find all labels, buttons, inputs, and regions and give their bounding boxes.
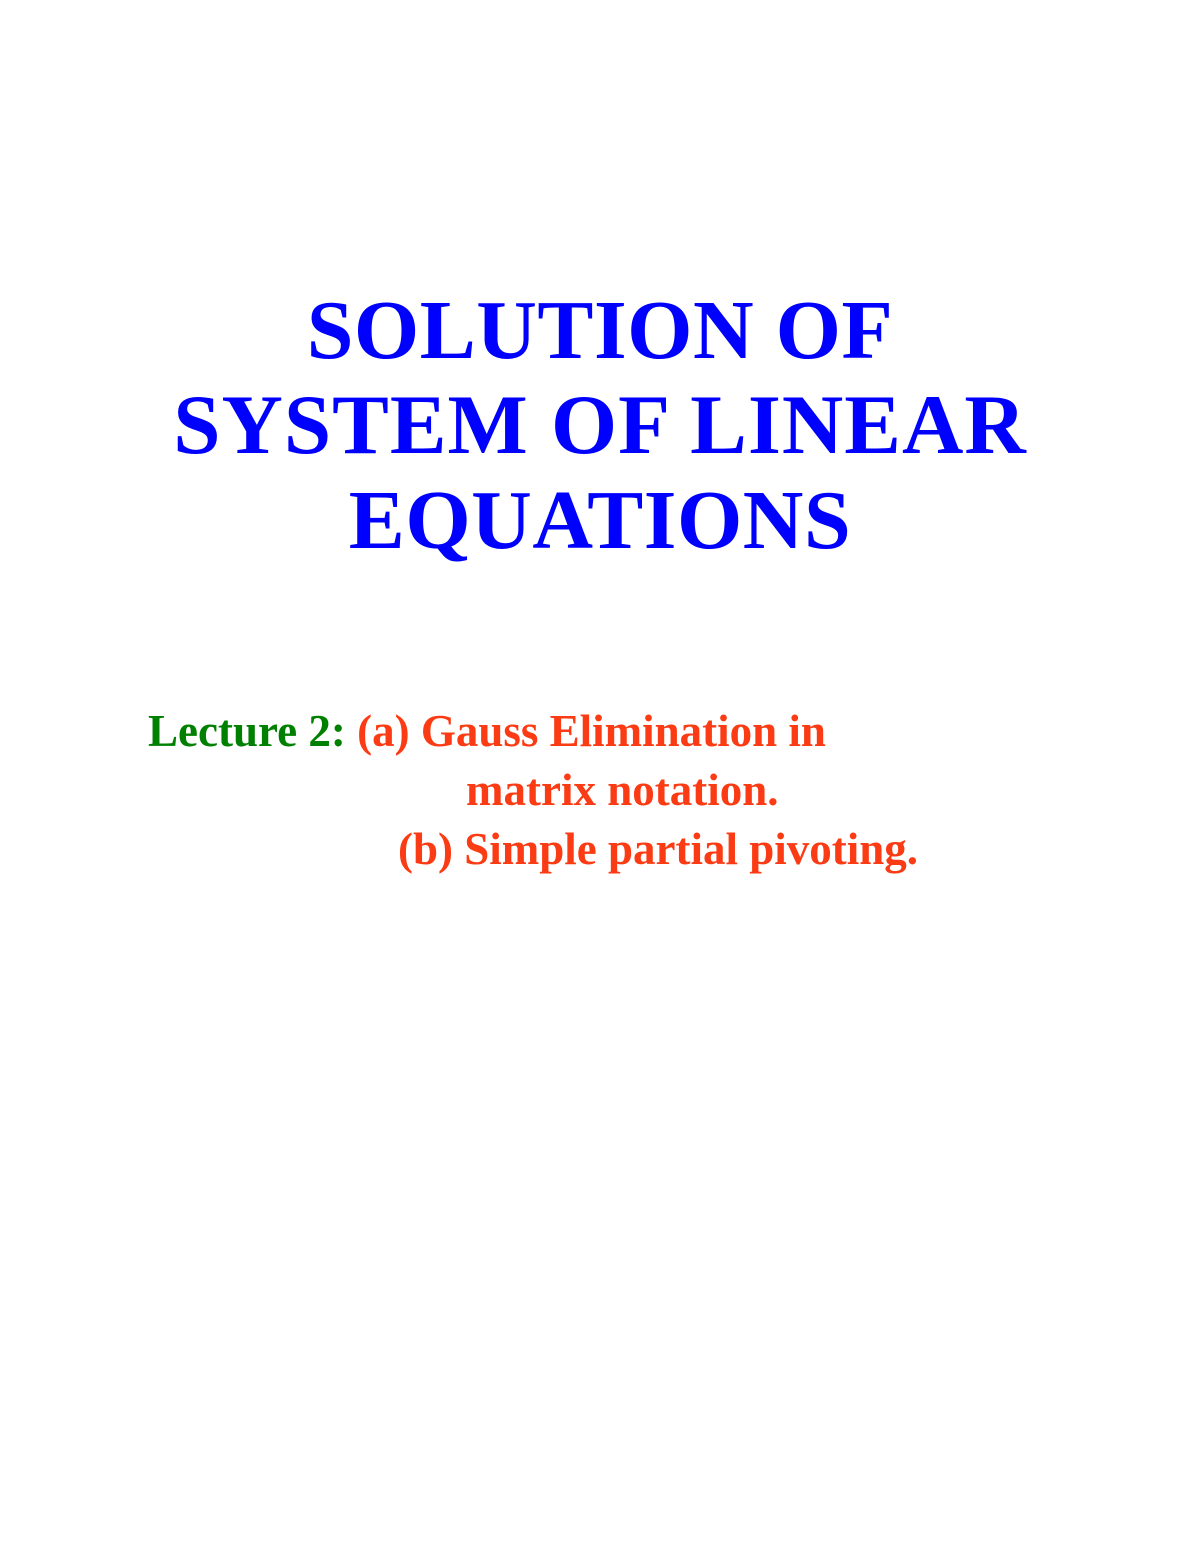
lecture-item-b: (b) Simple partial pivoting. [398, 824, 918, 874]
lecture-row-1-continuation: matrix notation. [148, 761, 1088, 820]
title-line-1: SOLUTION OF [0, 283, 1200, 378]
title-line-2: SYSTEM OF LINEAR [0, 378, 1200, 473]
lecture-row-1: Lecture 2: (a) Gauss Elimination in [148, 702, 1088, 761]
lecture-row-2: (b) Simple partial pivoting. [148, 820, 1088, 879]
lecture-agenda: Lecture 2: (a) Gauss Elimination in matr… [148, 702, 1088, 879]
slide-canvas: SOLUTION OF SYSTEM OF LINEAR EQUATIONS L… [0, 0, 1200, 1553]
title-line-3: EQUATIONS [0, 473, 1200, 568]
lecture-label: Lecture 2: [148, 706, 346, 756]
lecture-item-a-continuation: matrix notation. [466, 765, 778, 815]
lecture-item-a: (a) Gauss Elimination in [357, 706, 826, 756]
page-title: SOLUTION OF SYSTEM OF LINEAR EQUATIONS [0, 283, 1200, 568]
